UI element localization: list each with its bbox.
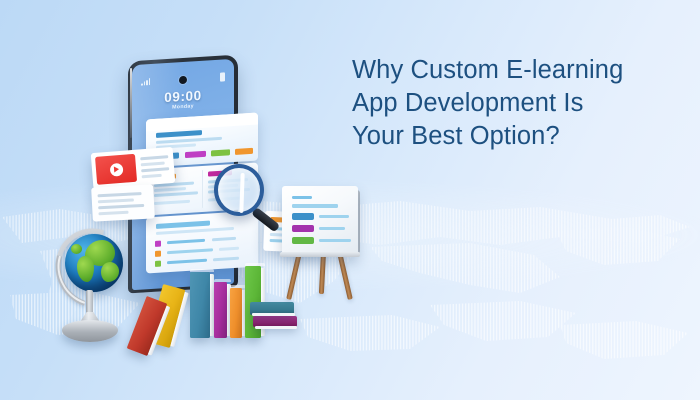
text-line <box>98 198 134 202</box>
tag-purple <box>292 225 314 232</box>
text-line <box>141 162 165 166</box>
lens-glint <box>239 173 244 213</box>
hero-banner: Why Custom E-learning App Development Is… <box>0 0 700 400</box>
easel-flipchart-icon <box>276 186 364 304</box>
text-line <box>292 204 338 208</box>
landmass <box>71 244 82 254</box>
play-triangle-icon <box>114 166 119 172</box>
page-title: Why Custom E-learning App Development Is… <box>352 54 682 153</box>
text-line <box>154 200 190 205</box>
orange-book-standing <box>230 288 242 338</box>
tag-green <box>292 237 314 244</box>
bullet-purple <box>155 241 161 247</box>
text-line <box>219 247 239 251</box>
text-line <box>167 248 213 254</box>
headline-line-3: Your Best Option? <box>352 120 682 153</box>
landmass <box>101 262 119 282</box>
video-thumbnail <box>95 154 137 185</box>
tag-green <box>211 149 230 156</box>
title-bar <box>156 220 210 228</box>
bullet-green <box>155 261 161 267</box>
magnifier-lens <box>214 164 264 216</box>
video-lesson-card <box>91 147 176 189</box>
text-line <box>156 137 222 144</box>
tag-blue <box>292 213 314 220</box>
globe-sphere <box>65 234 123 292</box>
landmass <box>77 256 94 282</box>
title-bar <box>156 130 202 138</box>
text-line <box>154 187 186 192</box>
headline-line-2: App Development Is <box>352 87 682 120</box>
teal-book-standing <box>190 272 210 338</box>
text-line <box>213 257 239 262</box>
easel-tray <box>280 252 360 257</box>
signal-bars-icon <box>141 78 150 86</box>
tag-orange <box>235 148 253 155</box>
text-line <box>154 191 198 196</box>
text-line <box>98 211 128 215</box>
easel-board <box>282 186 358 256</box>
tag-purple <box>185 151 206 158</box>
bullet-orange <box>155 251 161 257</box>
text-line <box>319 227 345 230</box>
text-line <box>140 155 168 160</box>
stacked-book-pages <box>255 326 297 329</box>
text-line <box>142 174 162 178</box>
text-line <box>167 239 205 244</box>
text-line <box>141 167 169 172</box>
text-line <box>98 192 142 197</box>
headline-line-1: Why Custom E-learning <box>352 54 682 87</box>
text-line <box>98 204 144 209</box>
front-camera-icon <box>179 76 187 85</box>
magenta-book-standing <box>214 282 227 338</box>
column-divider <box>202 170 203 208</box>
note-card-left <box>91 184 155 221</box>
text-line <box>292 196 312 199</box>
battery-icon <box>220 72 225 81</box>
text-line <box>167 259 207 265</box>
phone-edge-highlight <box>130 68 132 138</box>
text-line <box>319 239 351 242</box>
stacked-book-pages <box>252 313 295 316</box>
globe-base <box>62 320 118 342</box>
globe-icon <box>48 228 132 356</box>
text-line <box>319 215 349 218</box>
